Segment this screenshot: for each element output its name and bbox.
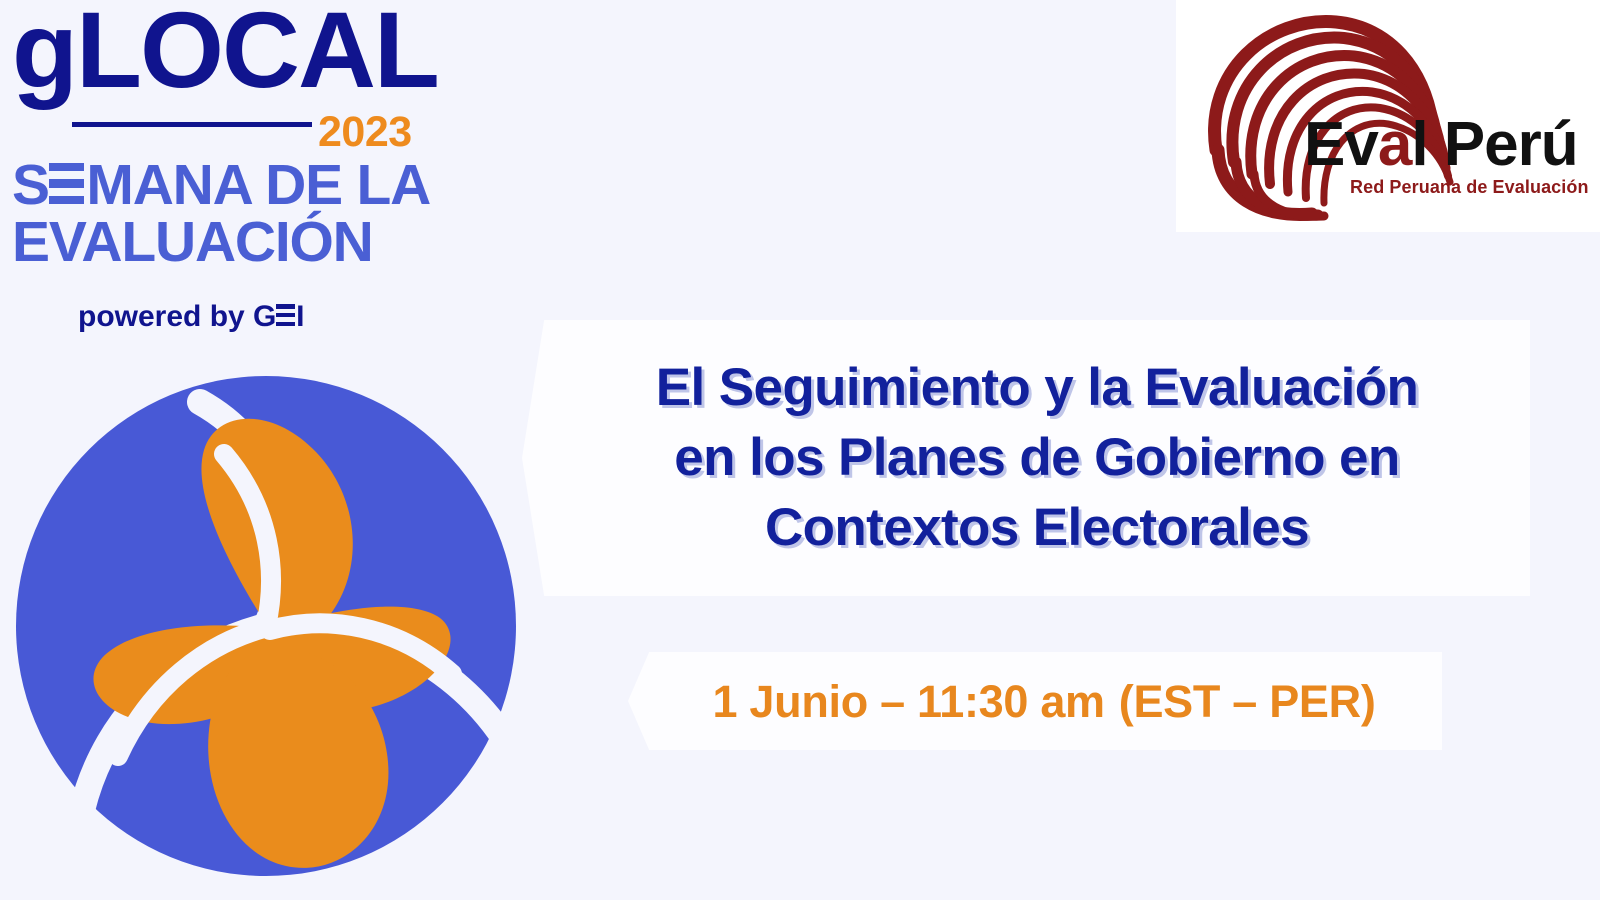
evalperu-name-part2: l Perú — [1411, 110, 1577, 179]
powered-by-prefix: powered by G — [78, 300, 276, 333]
pinwheel-flower-icon — [10, 358, 530, 900]
event-title-line-1: El Seguimiento y la Evaluación — [656, 353, 1419, 423]
evalperu-logo: Eval Perú Red Peruana de Evaluación — [1176, 0, 1600, 232]
glocal-powered-by: powered by GI — [78, 302, 304, 332]
stylized-e-icon — [276, 304, 295, 326]
glocal-logo: gLOCAL 2023 SMANA DE LA EVALUACIÓN power… — [6, 14, 436, 344]
glocal-subtitle-line1-suffix: MANA DE LA — [86, 153, 430, 217]
evalperu-name-accent: a — [1378, 110, 1411, 179]
event-title-line-3: Contextos Electorales — [656, 493, 1419, 563]
glocal-divider-rule — [72, 122, 312, 127]
event-date-time-value: 1 Junio – 11:30 am — [712, 676, 1104, 727]
evalperu-wordmark: Eval Perú — [1304, 114, 1578, 176]
evalperu-tagline: Red Peruana de Evaluación — [1350, 178, 1589, 196]
event-title-line-2: en los Planes de Gobierno en — [656, 423, 1419, 493]
glocal-subtitle-line1-prefix: S — [12, 153, 49, 217]
stylized-e-icon — [49, 163, 84, 204]
event-datetime: 1 Junio – 11:30 am(EST – PER) — [694, 679, 1375, 724]
event-timezone-value: (EST – PER) — [1119, 676, 1376, 727]
glocal-subtitle-line2: EVALUACIÓN — [12, 214, 373, 271]
evalperu-name-part1: Ev — [1304, 110, 1378, 179]
title-banner: El Seguimiento y la Evaluación en los Pl… — [522, 320, 1530, 596]
event-title: El Seguimiento y la Evaluación en los Pl… — [634, 353, 1419, 563]
powered-by-suffix: I — [296, 300, 304, 333]
date-banner: 1 Junio – 11:30 am(EST – PER) — [628, 652, 1442, 750]
event-poster: gLOCAL 2023 SMANA DE LA EVALUACIÓN power… — [0, 0, 1600, 900]
glocal-wordmark: gLOCAL — [12, 0, 438, 104]
glocal-year: 2023 — [318, 111, 412, 154]
glocal-subtitle-line1: SMANA DE LA — [12, 157, 430, 214]
glocal-wordmark-row: gLOCAL 2023 — [6, 14, 436, 134]
